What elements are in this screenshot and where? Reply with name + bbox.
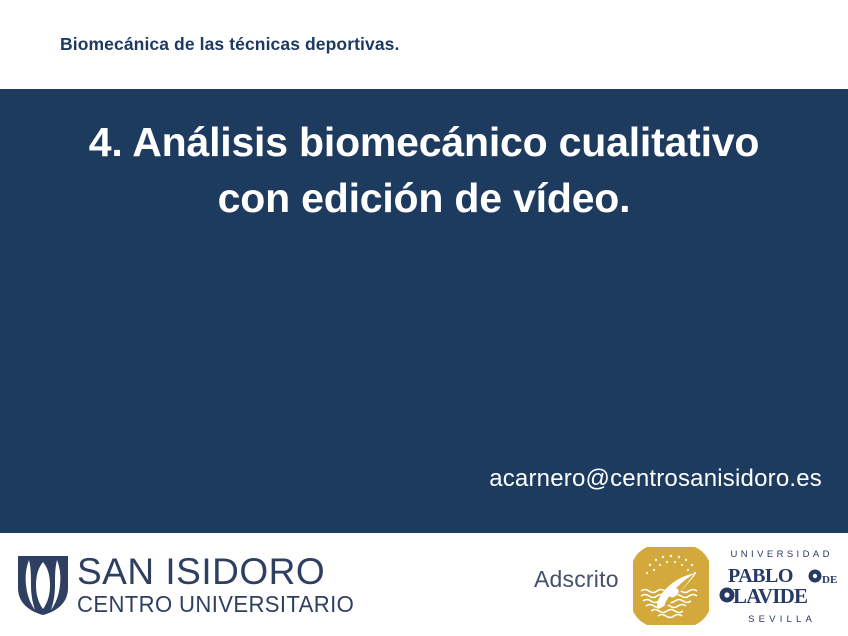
slide-heading: 4. Análisis biomecánico cualitativo con … bbox=[24, 115, 824, 227]
page-title: Biomecánica de las técnicas deportivas. bbox=[60, 34, 399, 55]
upo-pablo-olavide-logotype-icon: PABLO DE LAVIDE bbox=[718, 562, 842, 607]
san-isidoro-logo: SAN ISIDORO CENTRO UNIVERSITARIO bbox=[16, 553, 366, 616]
contact-email[interactable]: acarnero@centrosanisidoro.es bbox=[489, 465, 822, 493]
upo-wordmark: UNIVERSIDAD PABLO DE LAVIDE SEVILLA bbox=[718, 549, 842, 625]
upo-olavide-text: LAVIDE bbox=[733, 584, 807, 607]
san-isidoro-subtitle: CENTRO UNIVERSITARIO bbox=[77, 593, 354, 616]
upo-universidad-text: UNIVERSIDAD bbox=[718, 549, 842, 560]
adscrito-label: Adscrito bbox=[534, 566, 619, 593]
shield-book-icon bbox=[16, 554, 70, 616]
upo-sevilla-text: SEVILLA bbox=[718, 614, 842, 625]
slide-heading-line-2: con edición de vídeo. bbox=[24, 171, 824, 227]
header-strip: Biomecánica de las técnicas deportivas. bbox=[0, 0, 848, 89]
upo-de-text: DE bbox=[822, 574, 837, 586]
san-isidoro-wordmark: SAN ISIDORO CENTRO UNIVERSITARIO bbox=[77, 553, 366, 616]
san-isidoro-name: SAN ISIDORO bbox=[77, 553, 366, 590]
upo-sun-emblem-icon bbox=[633, 547, 709, 625]
slide-heading-line-1: 4. Análisis biomecánico cualitativo bbox=[24, 115, 824, 171]
slide-content-panel: 4. Análisis biomecánico cualitativo con … bbox=[0, 89, 848, 533]
